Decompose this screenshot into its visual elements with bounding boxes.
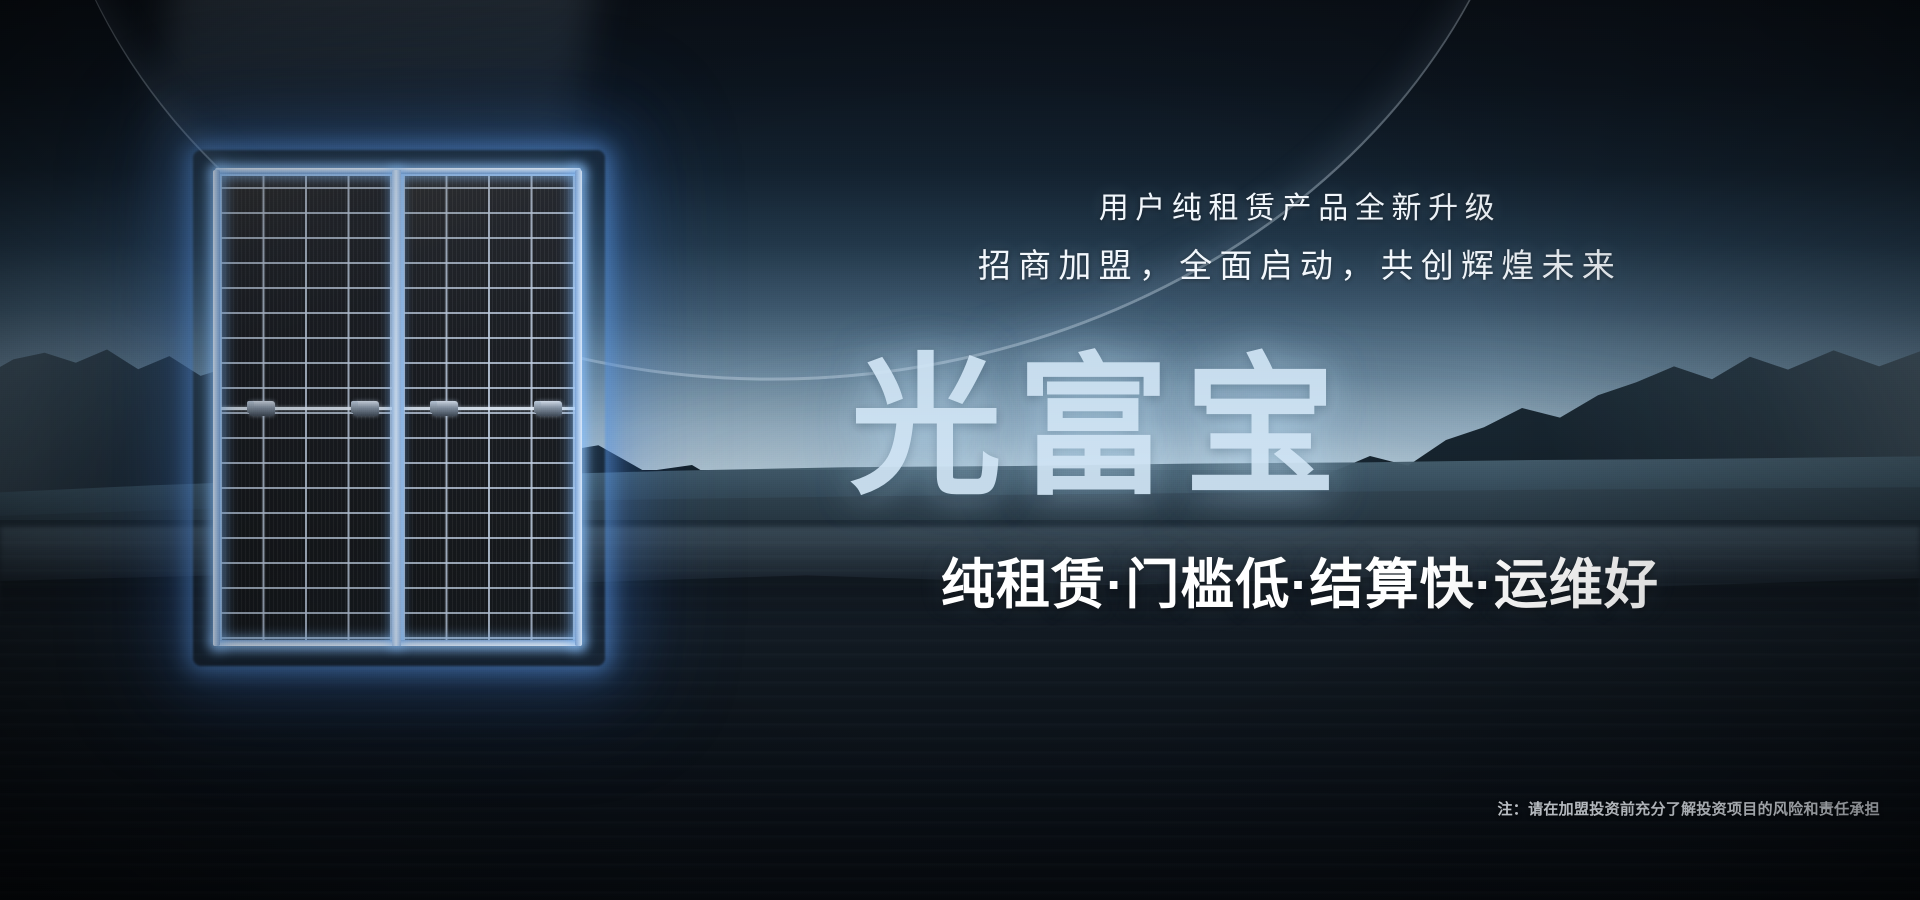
- headline-line-1: 用户纯租赁产品全新升级: [700, 186, 1900, 232]
- solar-clamp-icon: [351, 401, 358, 413]
- promo-banner: 用户纯租赁产品全新升级 招商加盟，全面启动，共创辉煌未来 光富宝 纯租赁·门槛低…: [0, 0, 1920, 900]
- panel-frame-right: [575, 170, 582, 646]
- solar-connector: [249, 401, 275, 416]
- solar-connector: [353, 401, 379, 416]
- headline-line-2: 招商加盟，全面启动，共创辉煌未来: [700, 240, 1900, 292]
- solar-clamp-icon: [430, 401, 437, 413]
- solar-connector: [536, 401, 562, 416]
- solar-connector: [432, 401, 458, 416]
- brand-title: 光富宝: [850, 352, 1352, 504]
- solar-clamp-icon: [247, 401, 254, 413]
- disclaimer-note: 注：请在加盟投资前充分了解投资项目的风险和责任承担: [1497, 798, 1880, 819]
- headline-block: 用户纯租赁产品全新升级 招商加盟，全面启动，共创辉煌未来: [700, 186, 1900, 292]
- solar-subpanel-right: [401, 173, 578, 643]
- solar-subpanel-left: [218, 173, 395, 643]
- tagline: 纯租赁·门槛低·结算快·运维好: [700, 540, 1900, 619]
- solar-clamp-icon: [534, 401, 541, 413]
- panel-frame-left: [213, 170, 220, 646]
- panel-frame-center-divider: [392, 170, 401, 646]
